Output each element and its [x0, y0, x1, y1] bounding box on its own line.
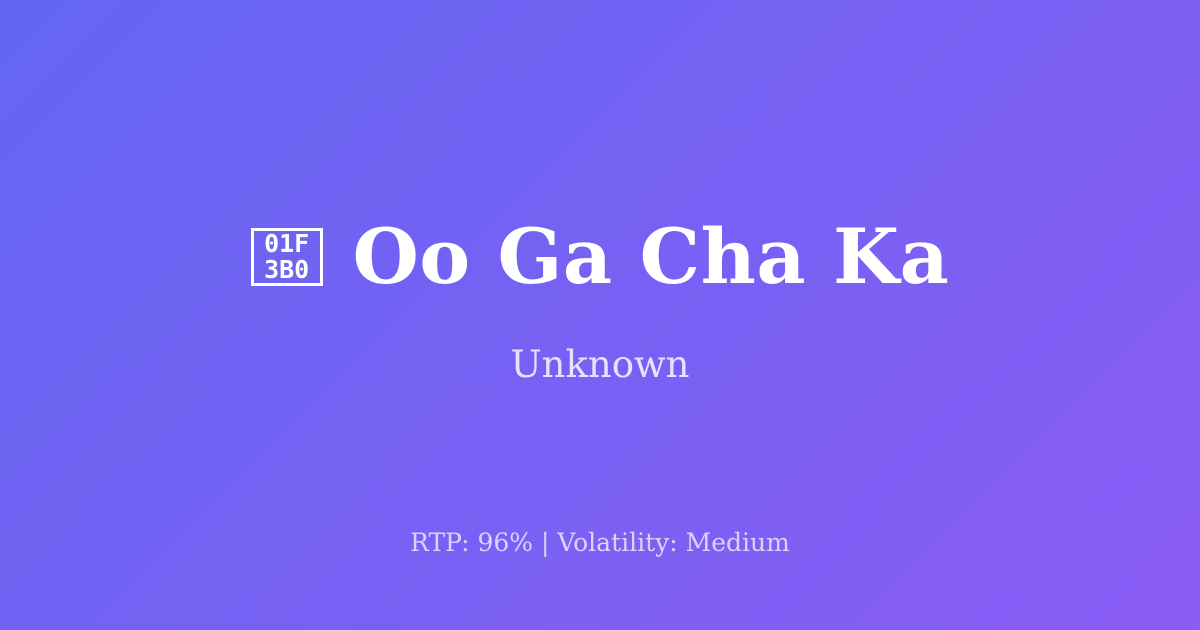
page-subtitle: Unknown	[510, 343, 689, 387]
page-title: Oo Ga Cha Ka	[353, 217, 950, 297]
game-meta-line: RTP: 96% | Volatility: Medium	[0, 528, 1200, 558]
tofu-codepoint-line-1: 01F	[264, 231, 309, 257]
slot-machine-icon: 01F 3B0	[251, 228, 323, 286]
title-row: 01F 3B0 Oo Ga Cha Ka	[251, 217, 950, 297]
tofu-codepoint-line-2: 3B0	[264, 257, 309, 283]
og-preview-card: 01F 3B0 Oo Ga Cha Ka Unknown RTP: 96% | …	[0, 0, 1200, 630]
